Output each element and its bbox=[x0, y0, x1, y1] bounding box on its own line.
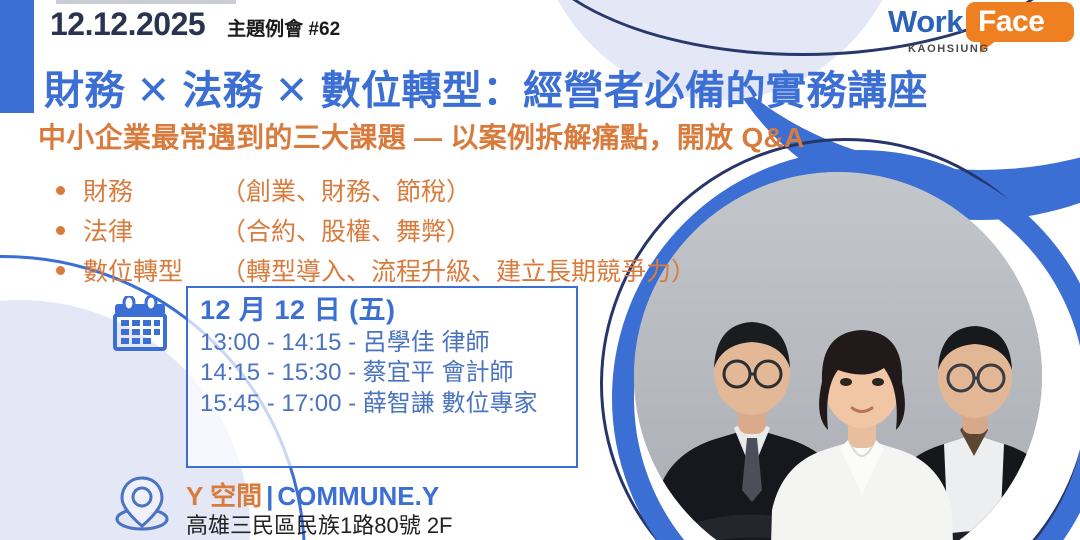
event-date: 12.12.2025 bbox=[50, 6, 205, 43]
venue-separator: | bbox=[262, 481, 277, 511]
schedule-row: 14:15 - 15:30 - 蔡宜平 會計師 bbox=[200, 358, 576, 389]
top-rule-decoration bbox=[56, 0, 236, 4]
topic-detail: （合約、股權、舞弊） bbox=[221, 212, 471, 248]
logo-work-text: Work bbox=[888, 4, 963, 40]
left-accent-bar bbox=[0, 0, 34, 113]
topic-label: 數位轉型 bbox=[83, 252, 221, 288]
schedule-row: 13:00 - 14:15 - 呂學佳 律師 bbox=[200, 328, 576, 359]
venue-address: 高雄三民區民族1路80號 2F bbox=[186, 508, 453, 540]
meeting-number: 主題例會 #62 bbox=[227, 14, 340, 41]
bullet-dot-icon bbox=[56, 266, 65, 275]
topic-label: 財務 bbox=[83, 172, 221, 208]
list-item: 財務 （創業、財務、節稅） bbox=[56, 170, 716, 210]
schedule-date-heading: 12 月 12 日 (五) bbox=[200, 294, 576, 328]
bullet-dot-icon bbox=[56, 186, 65, 195]
topic-detail: （創業、財務、節稅） bbox=[221, 172, 471, 208]
workface-logo: Work Face KAOHSIUNG bbox=[888, 2, 1078, 58]
header-date-row: 12.12.2025 主題例會 #62 bbox=[50, 6, 340, 43]
logo-city-text: KAOHSIUNG bbox=[908, 43, 990, 55]
topic-detail: （轉型導入、流程升級、建立長期競爭力） bbox=[221, 252, 696, 288]
list-item: 法律 （合約、股權、舞弊） bbox=[56, 210, 716, 250]
topic-label: 法律 bbox=[83, 212, 221, 248]
venue-name-en: COMMUNE.Y bbox=[277, 481, 439, 511]
logo-face-text: Face bbox=[978, 5, 1044, 39]
event-poster: Work Face KAOHSIUNG 12.12.2025 主題例會 #62 … bbox=[0, 0, 1080, 540]
topic-list: 財務 （創業、財務、節稅） 法律 （合約、股權、舞弊） 數位轉型 （轉型導入、流… bbox=[56, 170, 716, 290]
page-title: 財務 ✕ 法務 ✕ 數位轉型：經營者必備的實務講座 bbox=[44, 58, 928, 116]
map-pin-icon bbox=[112, 472, 172, 534]
schedule-row: 15:45 - 17:00 - 薛智謙 數位專家 bbox=[200, 389, 576, 420]
bullet-dot-icon bbox=[56, 226, 65, 235]
list-item: 數位轉型 （轉型導入、流程升級、建立長期競爭力） bbox=[56, 250, 716, 290]
page-subtitle: 中小企業最常遇到的三大課題 — 以案例拆解痛點，開放 Q&A bbox=[38, 116, 805, 156]
schedule-box: 12 月 12 日 (五) 13:00 - 14:15 - 呂學佳 律師 14:… bbox=[186, 286, 578, 468]
calendar-icon bbox=[110, 296, 170, 354]
venue-name-zh: Y 空間 bbox=[186, 481, 262, 511]
